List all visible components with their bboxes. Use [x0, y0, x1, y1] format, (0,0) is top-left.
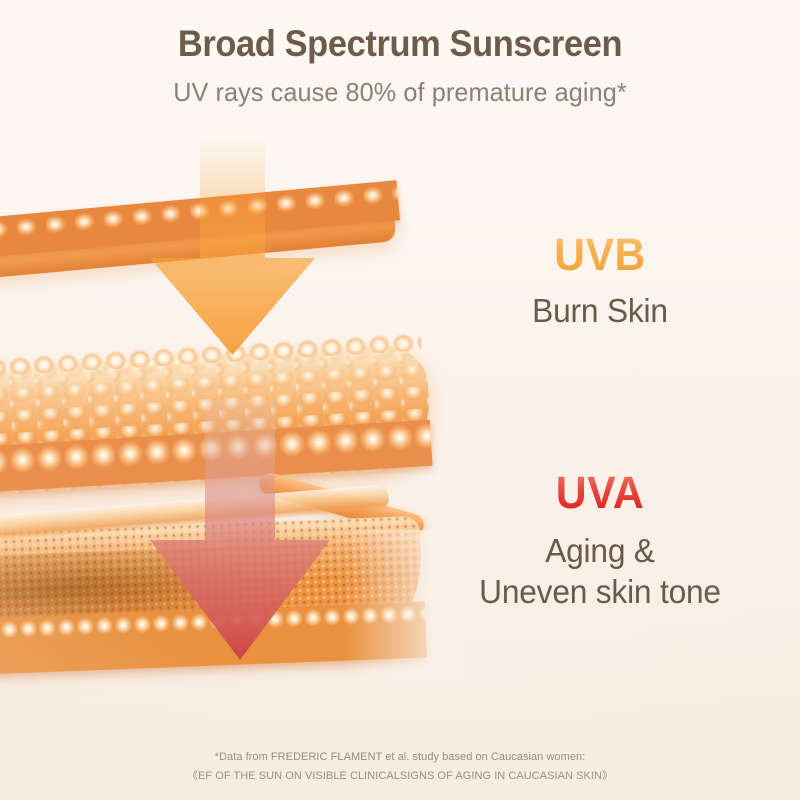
footnote-line-2: 《EF OF THE SUN ON VISIBLE CLINICALSIGNS … [0, 767, 800, 786]
uva-down-arrow-icon [150, 400, 330, 660]
footnote-line-1: *Data from FREDERIC FLAMENT et al. study… [0, 748, 800, 767]
uva-description-line-2: Uneven skin tone [446, 572, 753, 613]
uvb-tag: UVB [462, 232, 738, 277]
uvb-description: Burn Skin [461, 291, 739, 332]
uva-description-line-1: Aging & [446, 531, 753, 572]
uva-tag: UVA [448, 470, 752, 515]
page-title: Broad Spectrum Sunscreen [28, 22, 772, 66]
uva-label-group: UVA Aging & Uneven skin tone [440, 470, 760, 612]
page-subtitle: UV rays cause 80% of premature aging* [12, 77, 788, 108]
sunscreen-infographic-poster: Broad Spectrum Sunscreen UV rays cause 8… [0, 0, 800, 800]
headline-block: Broad Spectrum Sunscreen UV rays cause 8… [0, 22, 800, 108]
footnote: *Data from FREDERIC FLAMENT et al. study… [0, 748, 800, 787]
uvb-down-arrow-icon [150, 140, 315, 355]
uva-description: Aging & Uneven skin tone [446, 531, 753, 612]
uvb-label-group: UVB Burn Skin [455, 232, 745, 332]
